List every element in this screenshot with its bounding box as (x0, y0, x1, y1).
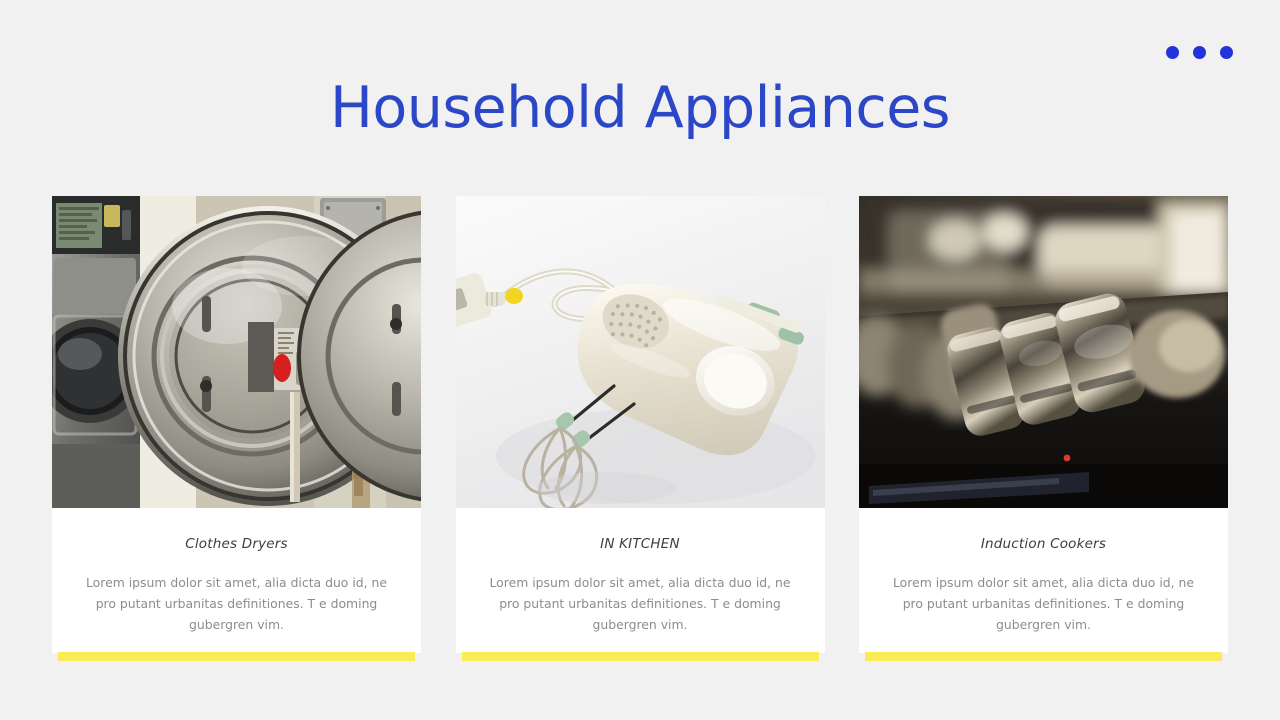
card-body: Clothes Dryers Lorem ipsum dolor sit ame… (52, 508, 421, 653)
card-induction-cookers[interactable]: Induction Cookers Lorem ipsum dolor sit … (859, 196, 1228, 661)
card-row: Clothes Dryers Lorem ipsum dolor sit ame… (52, 196, 1228, 661)
card-in-kitchen[interactable]: IN KITCHEN Lorem ipsum dolor sit amet, a… (456, 196, 825, 661)
card-title: Clothes Dryers (72, 536, 401, 552)
card-title: IN KITCHEN (476, 536, 805, 552)
accent-bar (865, 652, 1222, 661)
card-clothes-dryers[interactable]: Clothes Dryers Lorem ipsum dolor sit ame… (52, 196, 421, 661)
card-description: Lorem ipsum dolor sit amet, alia dicta d… (72, 573, 401, 635)
accent-bar (58, 652, 415, 661)
industrial-clothes-dryers-photo (52, 196, 421, 508)
hand-mixer-photo (456, 196, 825, 508)
induction-cooker-knobs-photo (859, 196, 1228, 508)
slide-canvas: Household Appliances (0, 0, 1280, 720)
page-title: Household Appliances (0, 79, 1280, 139)
card-title: Induction Cookers (879, 536, 1208, 552)
card-body: Induction Cookers Lorem ipsum dolor sit … (859, 508, 1228, 653)
dot-icon (1193, 46, 1206, 59)
card-description: Lorem ipsum dolor sit amet, alia dicta d… (476, 573, 805, 635)
card-description: Lorem ipsum dolor sit amet, alia dicta d… (879, 573, 1208, 635)
decor-dots (1166, 46, 1233, 59)
card-body: IN KITCHEN Lorem ipsum dolor sit amet, a… (456, 508, 825, 653)
dot-icon (1166, 46, 1179, 59)
dot-icon (1220, 46, 1233, 59)
accent-bar (462, 652, 819, 661)
